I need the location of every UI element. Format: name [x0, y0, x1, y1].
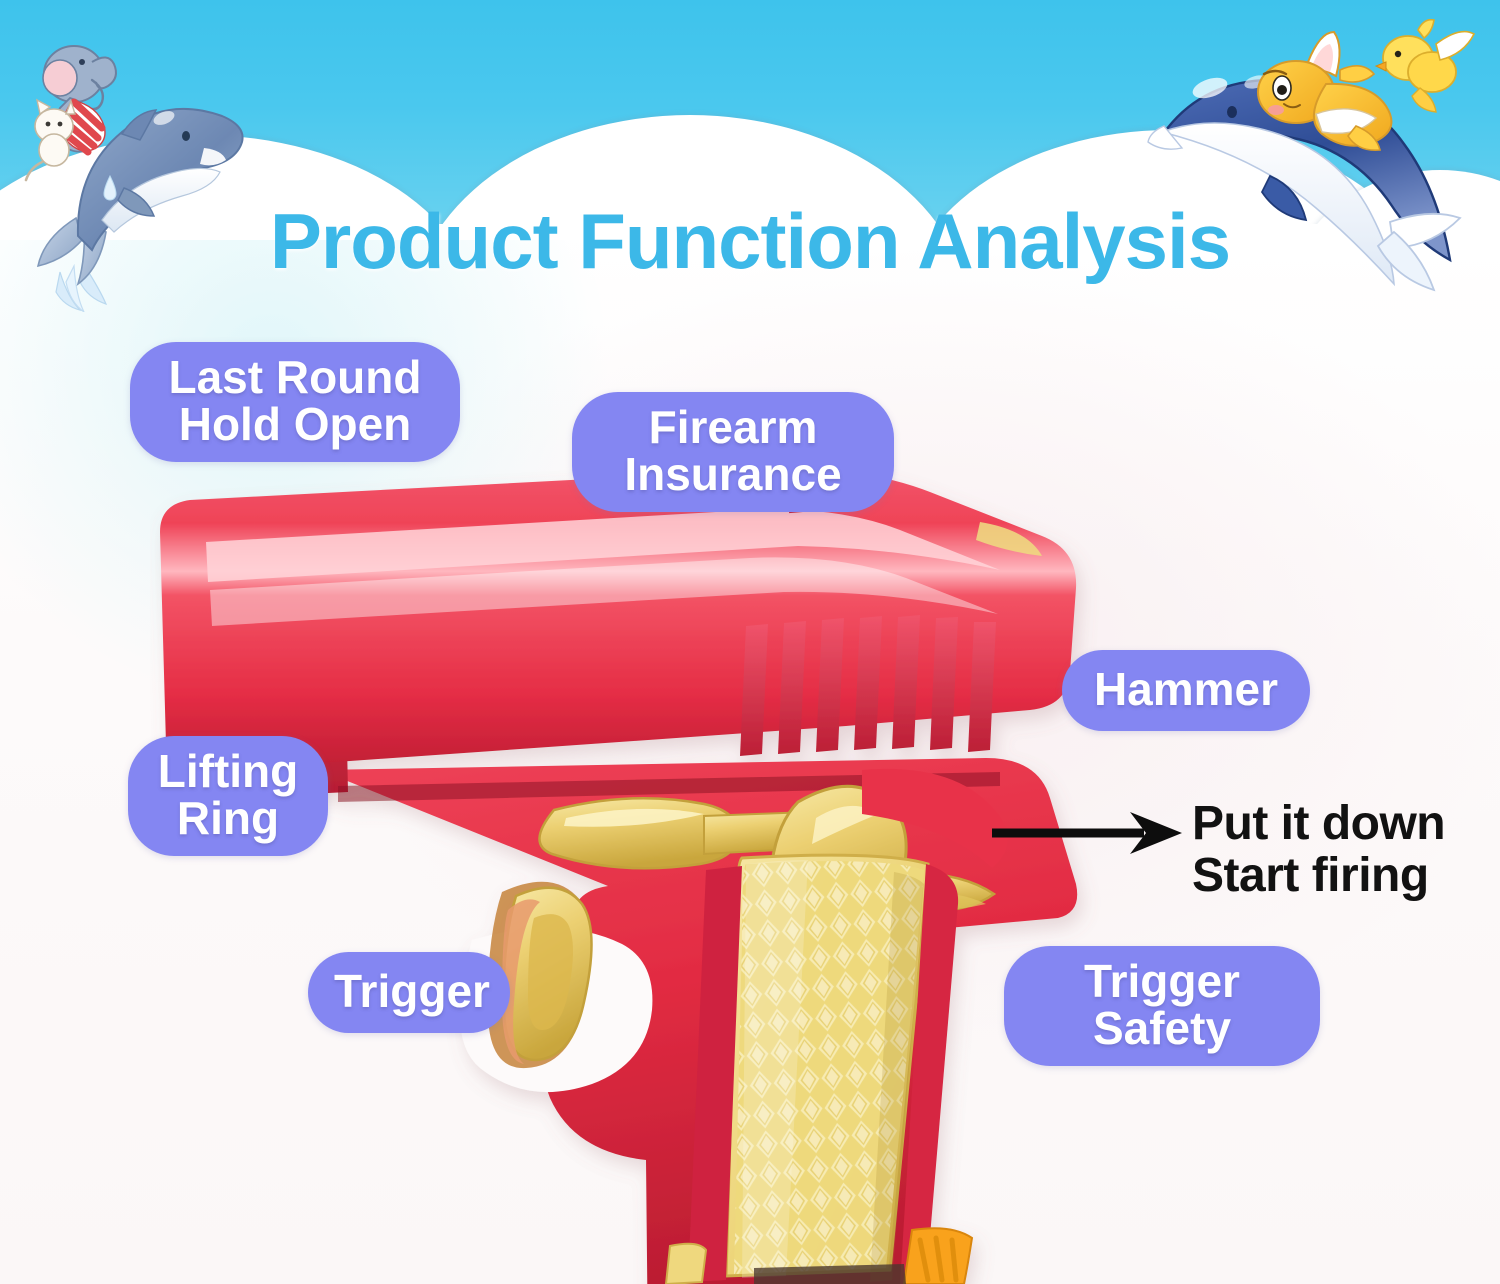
callout-trigger-safety[interactable]: Trigger Safety	[1004, 946, 1320, 1066]
annotation-caption: Put it down Start firing	[1192, 798, 1492, 902]
callout-trigger[interactable]: Trigger	[308, 952, 510, 1033]
right-arrow-icon	[992, 806, 1192, 860]
product-function-infographic: Product Function Analysis	[0, 0, 1500, 1284]
callout-hammer[interactable]: Hammer	[1062, 650, 1310, 731]
callout-firearm-insurance[interactable]: Firearm Insurance	[572, 392, 894, 512]
red-gold-toy-pistol	[150, 440, 1160, 1284]
callout-lifting-ring[interactable]: Lifting Ring	[128, 736, 328, 856]
page-title: Product Function Analysis	[0, 196, 1500, 287]
callout-last-round-hold-open[interactable]: Last Round Hold Open	[130, 342, 460, 462]
